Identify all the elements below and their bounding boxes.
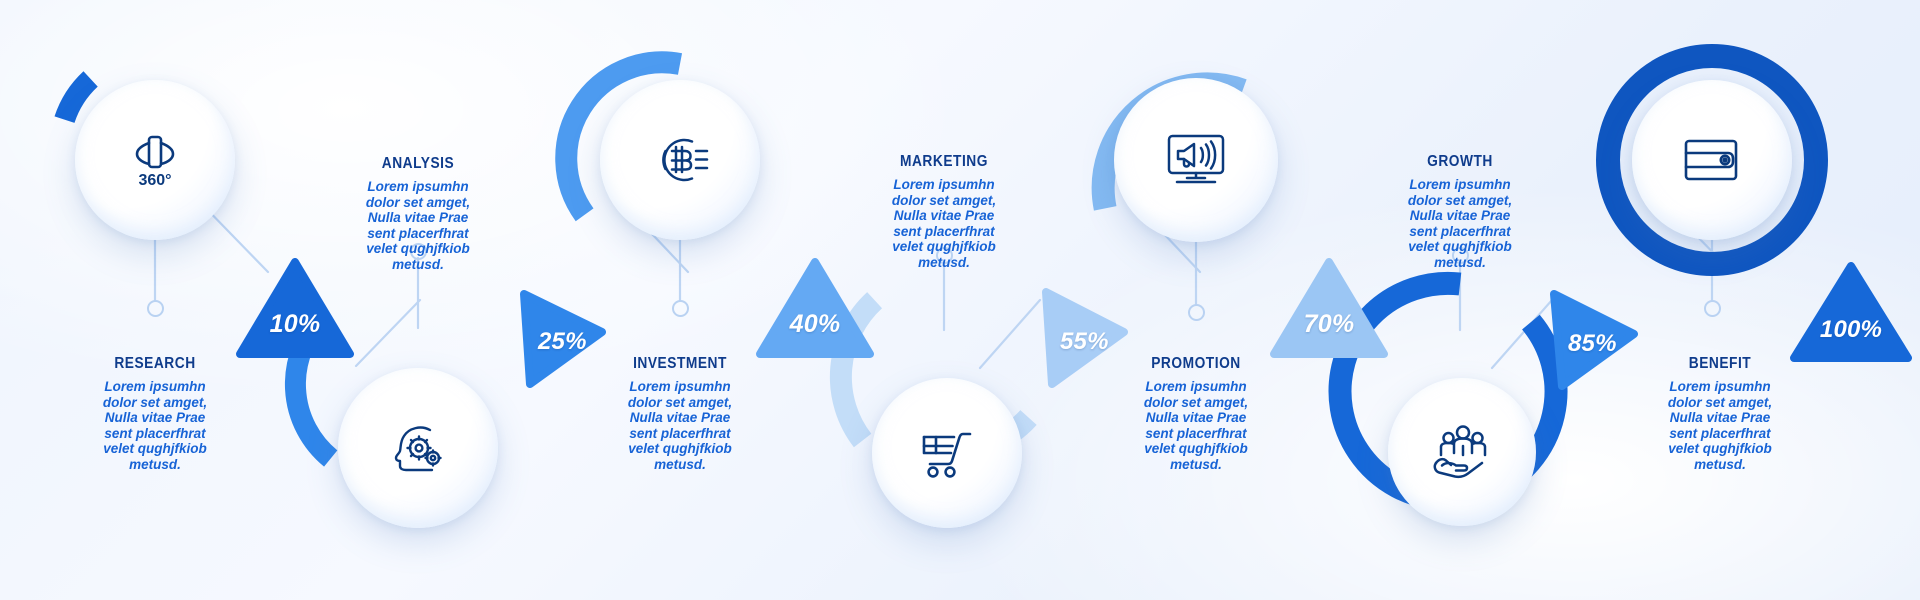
badge-investment-label: 40% bbox=[790, 310, 841, 339]
badge-promotion[interactable]: 70% bbox=[1270, 258, 1388, 360]
badge-analysis-label: 25% bbox=[538, 328, 587, 356]
badge-analysis[interactable]: 25% bbox=[494, 290, 606, 388]
badge-benefit-label: 100% bbox=[1820, 316, 1882, 344]
badge-layer: 10% 25% 40% 55% 70% bbox=[0, 0, 1920, 600]
badge-research-label: 10% bbox=[270, 310, 321, 339]
badge-growth-label: 85% bbox=[1568, 330, 1617, 358]
infographic-stage: 360° bbox=[0, 0, 1920, 600]
badge-investment[interactable]: 40% bbox=[756, 258, 874, 360]
badge-promotion-label: 70% bbox=[1304, 310, 1355, 339]
badge-marketing[interactable]: 55% bbox=[1014, 288, 1130, 388]
badge-research[interactable]: 10% bbox=[236, 258, 354, 360]
badge-marketing-label: 55% bbox=[1060, 328, 1109, 356]
badge-growth[interactable]: 85% bbox=[1524, 290, 1638, 390]
badge-benefit[interactable]: 100% bbox=[1790, 262, 1912, 364]
